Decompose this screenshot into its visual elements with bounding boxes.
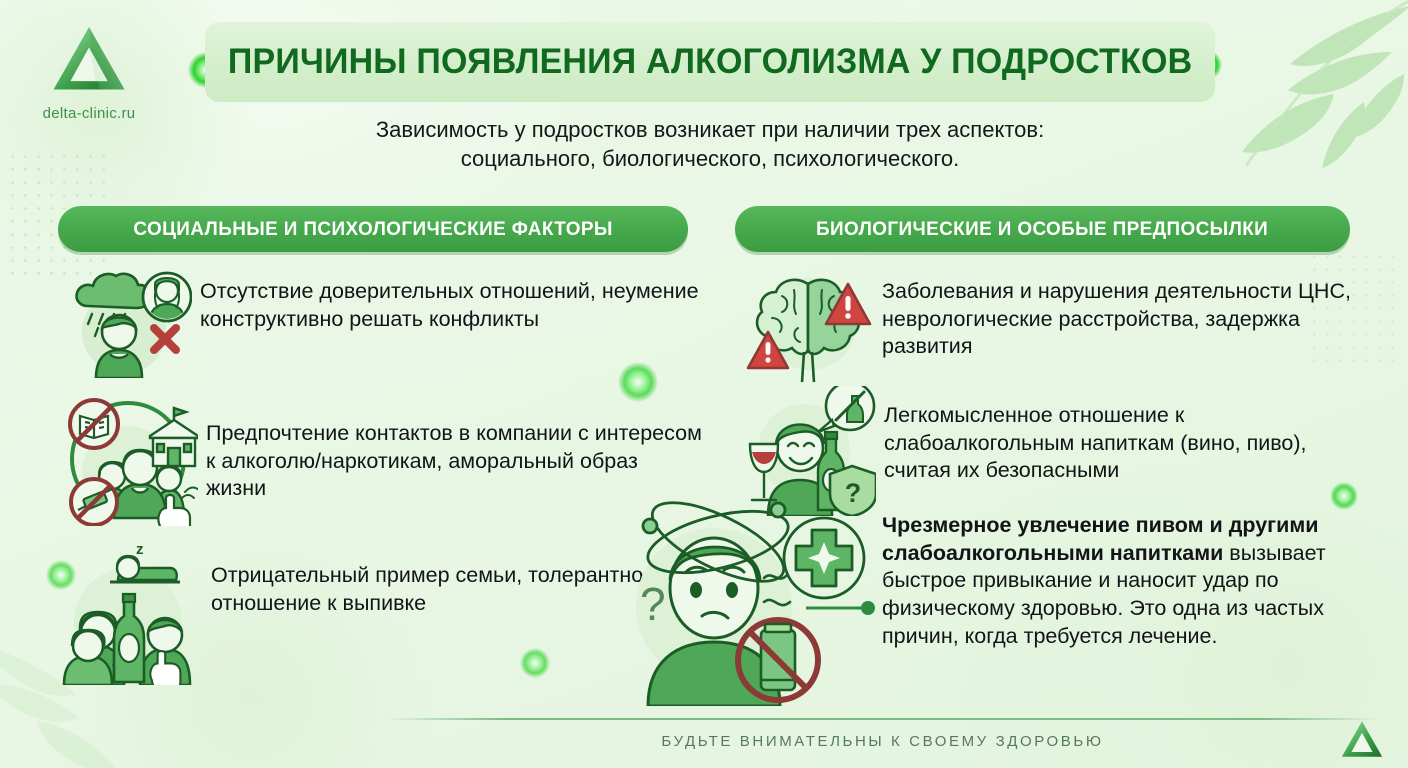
list-item: Заболевания и нарушения деятельности ЦНС… (742, 266, 1372, 384)
section-heading-social: СОЦИАЛЬНЫЕ И ПСИХОЛОГИЧЕСКИЕ ФАКТОРЫ (58, 206, 688, 252)
delta-triangle-logo-icon (46, 22, 132, 98)
page-subtitle: Зависимость у подростков возникает при н… (205, 115, 1215, 173)
peer-group-no-book-school-no-syringe-icon (58, 392, 198, 526)
section-heading-biological-label: БИОЛОГИЧЕСКИЕ И ОСОБЫЕ ПРЕДПОСЫЛКИ (816, 218, 1268, 241)
teen-wine-glass-beer-bottle-shield-question-icon: ? (742, 386, 876, 516)
brain-warning-triangles-icon (742, 266, 874, 384)
footer-note: БУДЬТЕ ВНИМАТЕЛЬНЫ К СВОЕМУ ЗДОРОВЬЮ (385, 733, 1380, 750)
list-item-text: Чрезмерное увлечение пивом и другими сла… (882, 498, 1378, 706)
list-item-text: Легкомысленное отношение к слабоалкоголь… (884, 386, 1372, 516)
title-banner: ПРИЧИНЫ ПОЯВЛЕНИЯ АЛКОГОЛИЗМА У ПОДРОСТК… (205, 22, 1215, 102)
list-item: z Отрицательный пример семьи, толерантно… (58, 540, 703, 685)
dizzy-teen-medical-cross-no-beer-can-icon: ? (618, 498, 876, 706)
section-heading-biological: БИОЛОГИЧЕСКИЕ И ОСОБЫЕ ПРЕДПОСЫЛКИ (735, 206, 1350, 252)
subtitle-line-2: социального, биологического, психологиче… (205, 144, 1215, 173)
list-item: ? Легкомысленное отношение к слабоалкого… (742, 386, 1372, 516)
page-title: ПРИЧИНЫ ПОЯВЛЕНИЯ АЛКОГОЛИЗМА У ПОДРОСТК… (228, 42, 1192, 82)
leaf-branch-icon (1214, 0, 1408, 180)
section-heading-social-label: СОЦИАЛЬНЫЕ И ПСИХОЛОГИЧЕСКИЕ ФАКТОРЫ (133, 218, 612, 241)
list-item: Отсутствие доверительных отношений, неум… (62, 266, 702, 378)
list-item-text: Заболевания и нарушения деятельности ЦНС… (882, 266, 1372, 384)
list-item: ? Чрезмерное увлечение пивом и другими с… (618, 498, 1378, 706)
family-with-bottle-drunk-parent-icon: z (58, 540, 203, 685)
list-item-text: Отсутствие доверительных отношений, неум… (200, 266, 702, 378)
footer-divider (385, 718, 1380, 720)
brand-site-label: delta-clinic.ru (14, 105, 164, 122)
svg-text:z: z (136, 541, 144, 558)
list-item: Предпочтение контактов в компании с инте… (58, 392, 703, 526)
rain-cloud-sad-teen-rejected-parent-icon (62, 266, 192, 378)
svg-text:?: ? (640, 578, 666, 630)
brand-logo[interactable]: delta-clinic.ru (14, 22, 164, 122)
subtitle-line-1: Зависимость у подростков возникает при н… (205, 115, 1215, 144)
delta-triangle-logo-small-icon (1338, 718, 1386, 762)
